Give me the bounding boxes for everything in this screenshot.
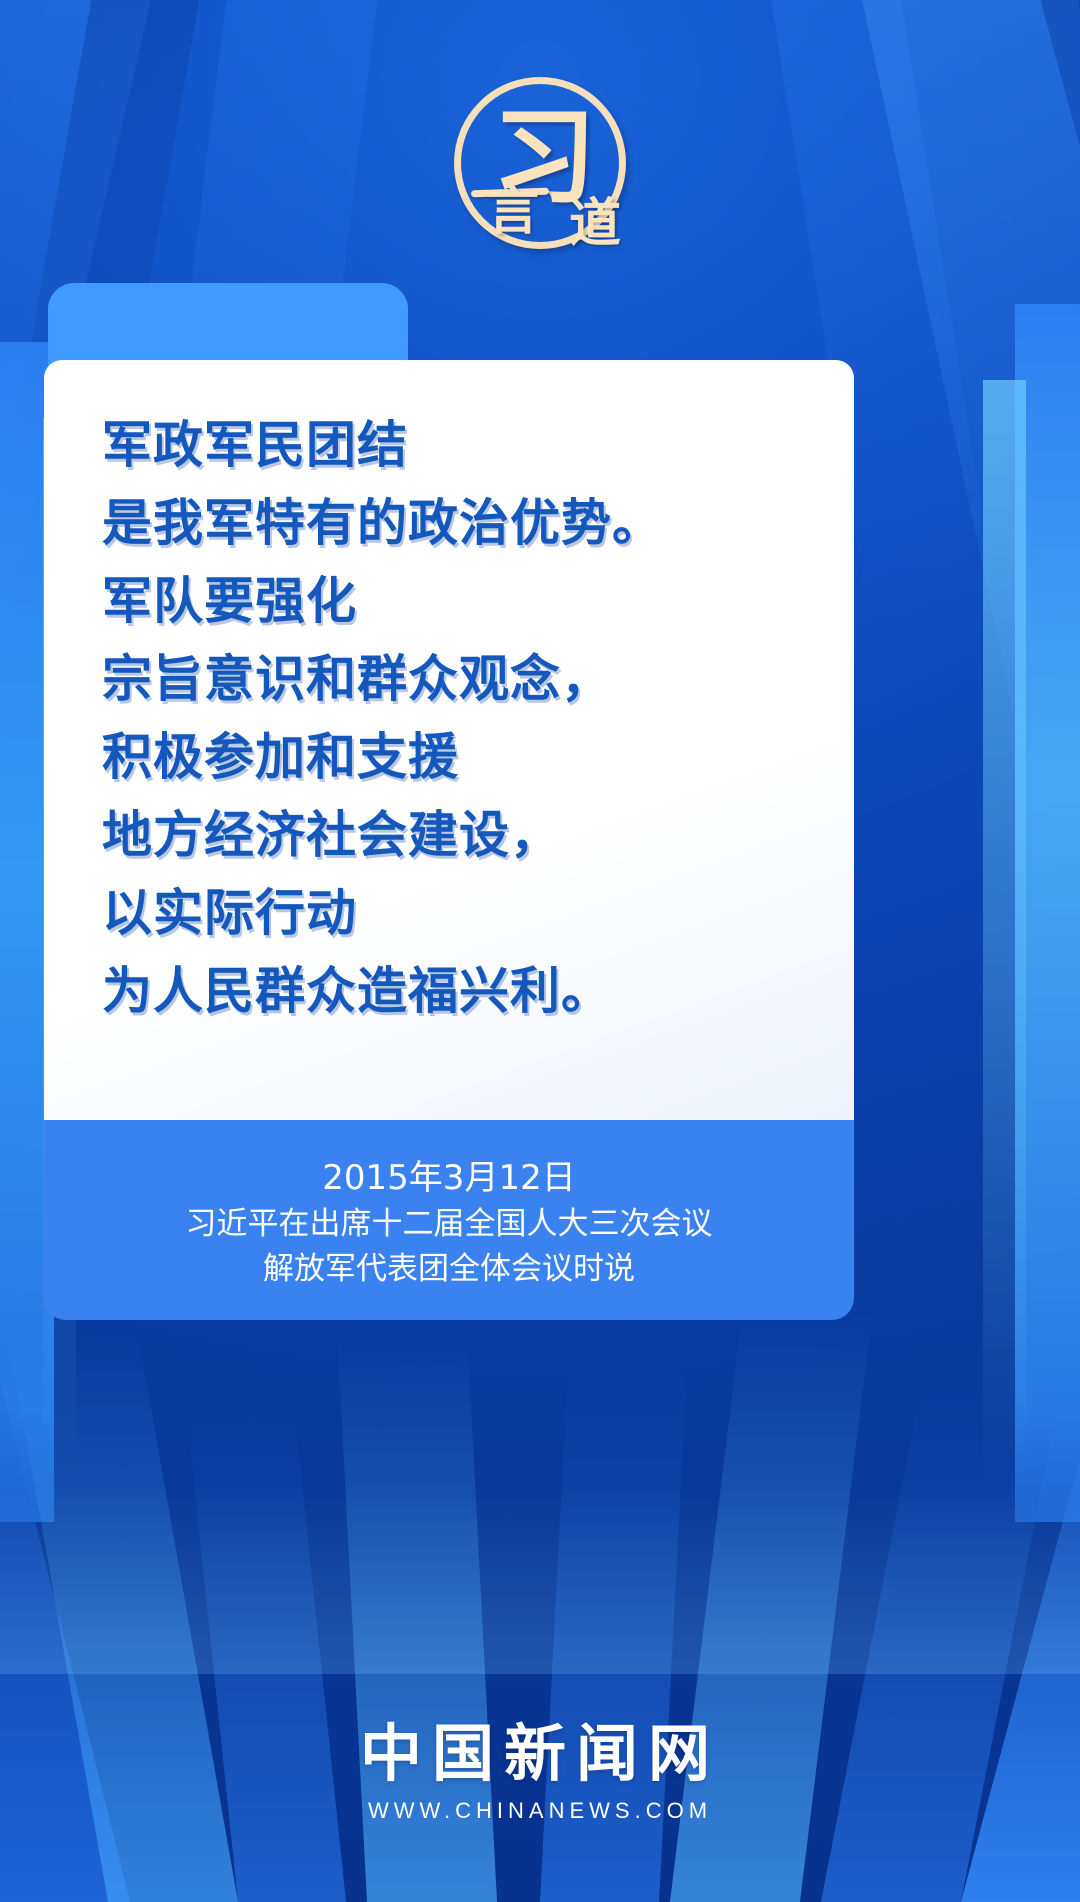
- quote-line: 宗旨意识和群众观念，: [102, 640, 824, 718]
- xi-yan-dao-seal-icon: 习 言 道: [454, 77, 626, 249]
- quote-line: 为人民群众造福兴利。: [102, 952, 824, 1030]
- quote-source-line-2: 解放军代表团全体会议时说: [263, 1247, 635, 1292]
- quote-line: 军队要强化: [102, 562, 824, 640]
- quote-line: 以实际行动: [102, 874, 824, 952]
- quote-line: 军政军民团结: [102, 406, 824, 484]
- quote-line: 积极参加和支援: [102, 718, 824, 796]
- quote-text: 军政军民团结 是我军特有的政治优势。 军队要强化 宗旨意识和群众观念， 积极参加…: [102, 406, 824, 1030]
- quote-line: 是我军特有的政治优势。: [102, 484, 824, 562]
- footer-brand: 中国新闻网 WWW.CHINANEWS.COM: [0, 1718, 1080, 1824]
- chinanews-url: WWW.CHINANEWS.COM: [368, 1798, 712, 1824]
- attribution-band: 2015年3月12日 习近平在出席十二届全国人大三次会议 解放军代表团全体会议时…: [44, 1120, 854, 1320]
- brand-seal-container: 习 言 道: [0, 58, 1080, 268]
- quote-card: 军政军民团结 是我军特有的政治优势。 军队要强化 宗旨意识和群众观念， 积极参加…: [44, 360, 854, 1120]
- side-light-right-inner: [983, 380, 1026, 1483]
- bottom-light-band: [0, 1484, 1080, 1674]
- quote-line: 地方经济社会建设，: [102, 796, 824, 874]
- poster-root: 习 言 道 军政军民团结 是我军特有的政治优势。 军队要强化 宗旨意识和群众观念…: [0, 0, 1080, 1902]
- chinanews-logo-text: 中国新闻网: [360, 1718, 720, 1790]
- quote-source-line-1: 习近平在出席十二届全国人大三次会议: [186, 1202, 713, 1247]
- seal-char-dao: 道: [569, 198, 621, 250]
- seal-char-yan: 言: [487, 186, 539, 238]
- quote-date: 2015年3月12日: [322, 1154, 575, 1202]
